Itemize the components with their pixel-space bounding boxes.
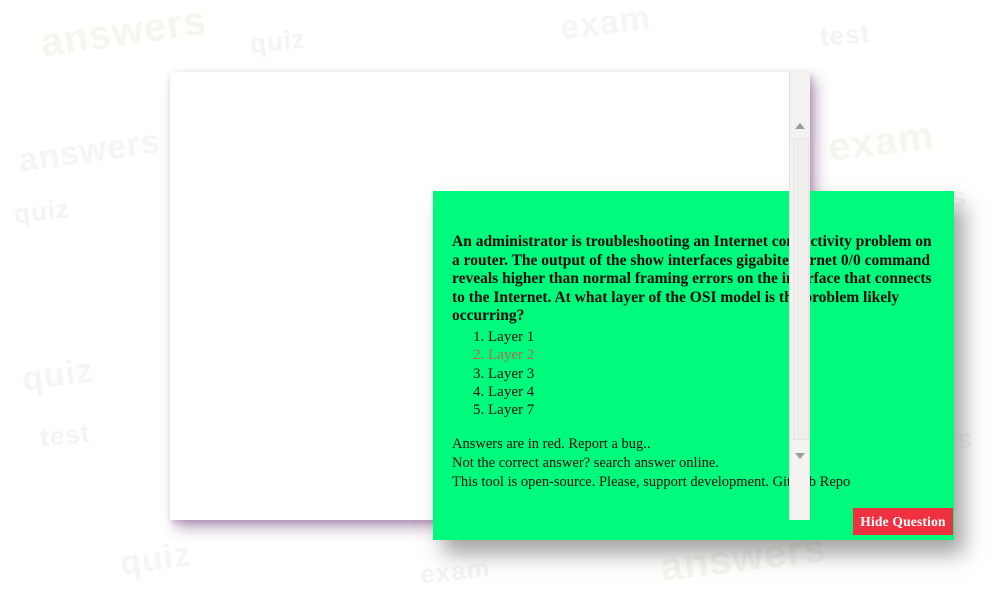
scrollbar-thumb[interactable] <box>793 138 809 440</box>
triangle-up-icon <box>795 123 805 129</box>
watermark-text: quiz <box>118 535 195 584</box>
answer-number: 5. <box>473 402 488 418</box>
scrollbar-down-arrow[interactable] <box>790 446 810 466</box>
footer-note: This tool is open-source. Please, suppor… <box>452 473 942 492</box>
question-text: An administrator is troubleshooting an I… <box>452 233 934 326</box>
answer-number: 4. <box>473 384 488 400</box>
footer-note: Answers are in red. Report a bug.. <box>452 435 942 454</box>
watermark-text: exam <box>558 0 653 48</box>
page-sheet: An administrator is troubleshooting an I… <box>170 72 810 520</box>
answer-option: 3. Layer 3 <box>473 365 534 383</box>
answer-list: 1. Layer 12. Layer 23. Layer 34. Layer 4… <box>473 328 534 419</box>
watermark-text: quiz <box>20 351 97 400</box>
watermark-text: quiz <box>249 23 308 60</box>
watermark-text: test <box>819 18 872 53</box>
answer-option: 4. Layer 4 <box>473 383 534 401</box>
answer-label: Layer 2 <box>488 347 534 363</box>
answer-number: 2. <box>473 347 488 363</box>
answer-number: 3. <box>473 366 488 382</box>
watermark-text: exam <box>826 114 937 172</box>
answer-option: 5. Layer 7 <box>473 401 534 419</box>
watermark-text: answers <box>16 122 163 181</box>
triangle-down-icon <box>795 453 805 459</box>
footer-note: Not the correct answer? search answer on… <box>452 454 942 473</box>
answer-label: Layer 3 <box>488 366 534 382</box>
answer-label: Layer 7 <box>488 402 534 418</box>
answer-label: Layer 4 <box>488 384 534 400</box>
footer-notes: Answers are in red. Report a bug..Not th… <box>452 435 942 492</box>
page-scrollbar[interactable] <box>789 72 810 520</box>
watermark-text: test <box>39 417 92 453</box>
answer-option: 2. Layer 2 <box>473 346 534 364</box>
watermark-text: exam <box>419 552 492 590</box>
hide-question-button[interactable]: Hide Question <box>853 508 953 535</box>
answer-label: Layer 1 <box>488 329 534 345</box>
watermark-text: answers <box>38 0 210 66</box>
scrollbar-up-arrow[interactable] <box>790 116 810 136</box>
answer-number: 1. <box>473 329 488 345</box>
quiz-panel: An administrator is troubleshooting an I… <box>433 191 954 540</box>
watermark-text: quiz <box>13 193 72 230</box>
answer-option: 1. Layer 1 <box>473 328 534 346</box>
